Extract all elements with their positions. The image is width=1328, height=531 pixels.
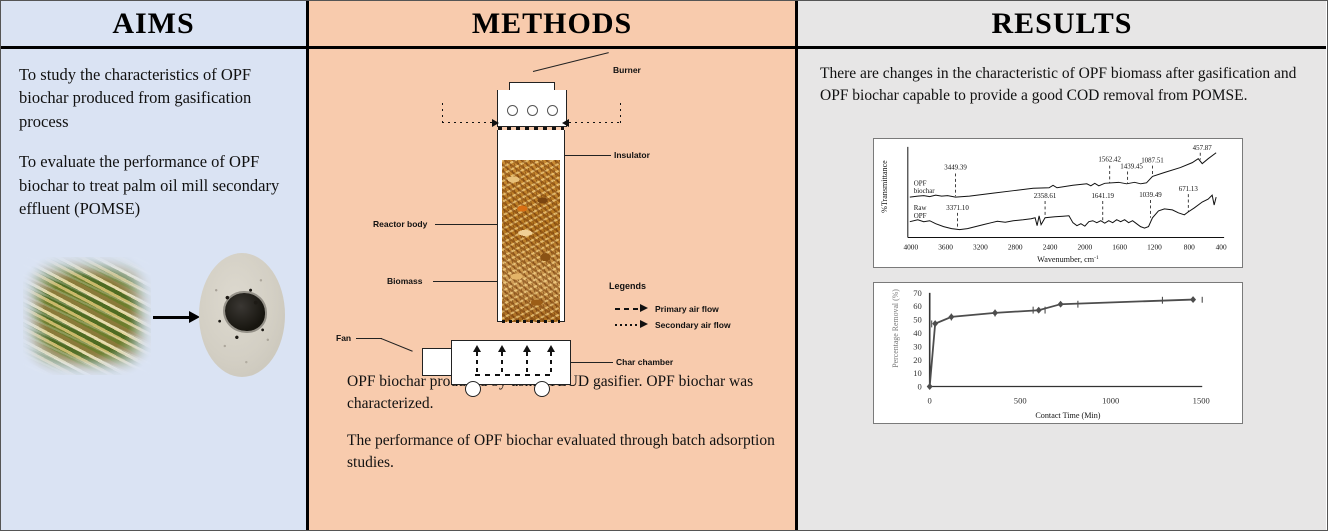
ftir-xtick-3200: 3200 (973, 242, 988, 251)
cod-removal-svg: 0 10 20 30 40 50 60 70 0 500 1000 1 (874, 283, 1242, 423)
biochar-photo (199, 253, 285, 377)
primary-air-riser-4 (550, 352, 552, 375)
ftir-peak-3449: 3449.39 (944, 165, 967, 172)
ftir-svg: %Transmittance (874, 139, 1242, 267)
legend-item-secondary: Secondary air flow (609, 317, 779, 333)
cod-xtick-1500: 1500 (1193, 395, 1210, 405)
arrow-shaft (153, 316, 191, 319)
cod-markers (927, 296, 1196, 390)
ftir-peak-1641: 1641.19 (1091, 193, 1114, 200)
methods-paragraph-2: The performance of OPF biochar evaluated… (347, 430, 775, 473)
burner-housing (497, 90, 567, 127)
ftir-peak-1087: 1087.51 (1141, 158, 1164, 165)
cod-ytick-20: 20 (913, 355, 922, 365)
cod-yticks: 0 10 20 30 40 50 60 70 (913, 288, 922, 392)
label-burner: Burner (613, 65, 641, 75)
secondary-air-left-arrowhead (492, 119, 499, 127)
palm-frond-photo (23, 257, 151, 375)
insulator-leader (565, 155, 611, 156)
primary-air-arrow-2 (498, 345, 506, 352)
aims-figure-group (1, 251, 309, 401)
ftir-xtick-1600: 1600 (1112, 242, 1127, 251)
biomass-leader (433, 281, 497, 282)
burner-leader (533, 52, 609, 72)
fan-leader (381, 338, 413, 352)
ftir-xtick-2000: 2000 (1078, 242, 1093, 251)
ftir-spectra-chart: %Transmittance (873, 138, 1243, 268)
ftir-peak-1562: 1562.42 (1098, 157, 1121, 164)
grate-perforation-row (502, 320, 560, 323)
ftir-peak-1039: 1039.49 (1139, 192, 1162, 199)
aims-header: AIMS (1, 1, 306, 49)
label-biomass: Biomass (387, 276, 422, 286)
cod-xticks: 0 500 1000 1500 (928, 395, 1210, 405)
burner-hole-1 (507, 105, 518, 116)
cod-ytick-40: 40 (913, 328, 922, 338)
ftir-xtick-3600: 3600 (938, 242, 953, 251)
diagram-legend: Legends Primary air flow Secondary air f… (609, 281, 779, 333)
label-reactor-body: Reactor body (373, 219, 427, 229)
primary-air-arrow-1 (473, 345, 481, 352)
cod-ylabel: Percentage Removal (%) (891, 289, 900, 368)
ftir-series-label-raw-2: OPF (914, 213, 927, 220)
char-chamber-leader (571, 362, 613, 363)
legend-title: Legends (609, 281, 779, 291)
aims-paragraph-2: To evaluate the performance of OPF bioch… (19, 150, 288, 220)
burner-hole-3 (547, 105, 558, 116)
legend-arrow-icon-secondary (640, 320, 648, 328)
ftir-ylabel: %Transmittance (880, 160, 889, 213)
burner-hole-2 (527, 105, 538, 116)
cod-ytick-50: 50 (913, 315, 922, 325)
frond-vignette (23, 257, 151, 375)
cod-ytick-30: 30 (913, 341, 922, 351)
biomass-chips-texture (502, 160, 560, 322)
ftir-xticks: 4000 3600 3200 2800 2400 2000 1600 1200 … (903, 242, 1227, 251)
primary-air-arrow-3 (523, 345, 531, 352)
results-text-block: There are changes in the characteristic … (798, 49, 1326, 115)
graphical-abstract: AIMS To study the characteristics of OPF… (0, 0, 1328, 531)
fan-unit (422, 348, 452, 376)
column-results: RESULTS There are changes in the charact… (798, 1, 1326, 530)
cod-ytick-70: 70 (913, 288, 922, 298)
column-aims: AIMS To study the characteristics of OPF… (1, 1, 309, 530)
label-char-chamber: Char chamber (616, 357, 673, 367)
fan-leader-flat (356, 338, 382, 339)
legend-dotted-line-icon (615, 324, 641, 326)
cod-ytick-10: 10 (913, 368, 922, 378)
aims-body: To study the characteristics of OPF bioc… (1, 49, 306, 530)
ftir-xlabel: Wavenumber, cm-1 (1037, 255, 1099, 264)
ftir-peak-671: 671.13 (1179, 186, 1199, 193)
results-title: RESULTS (992, 7, 1133, 41)
cod-xtick-500: 500 (1014, 395, 1027, 405)
conversion-arrow-icon (153, 311, 201, 323)
cod-ytick-0: 0 (917, 382, 921, 392)
label-fan: Fan (336, 333, 351, 343)
cod-xlabel: Contact Time (Min) (1035, 411, 1100, 420)
secondary-air-left-drop (442, 103, 443, 123)
ftir-peak-457: 457.87 (1193, 145, 1213, 152)
secondary-air-left-line (442, 122, 494, 123)
wheel-left (465, 381, 481, 397)
results-header: RESULTS (798, 1, 1326, 49)
cod-removal-chart: 0 10 20 30 40 50 60 70 0 500 1000 1 (873, 282, 1243, 424)
reactor-body-leader (435, 224, 497, 225)
cod-xtick-1000: 1000 (1102, 395, 1119, 405)
label-insulator: Insulator (614, 150, 650, 160)
aims-paragraph-1: To study the characteristics of OPF bioc… (19, 63, 288, 133)
primary-air-riser-2 (501, 352, 503, 375)
reactor-assembly (497, 82, 565, 340)
ftir-xtick-2400: 2400 (1043, 242, 1058, 251)
ftir-peak-3371: 3371.10 (946, 205, 969, 212)
aims-title: AIMS (112, 7, 194, 41)
legend-label-primary: Primary air flow (655, 304, 719, 314)
biochar-crumbs (199, 253, 285, 377)
primary-air-riser-3 (526, 352, 528, 375)
cod-xtick-0: 0 (928, 395, 932, 405)
ftir-series-label-biochar: OPF (914, 180, 927, 187)
cod-ytick-60: 60 (913, 301, 922, 311)
ftir-series-label-biochar-2: biochar (914, 188, 936, 195)
aims-text-block: To study the characteristics of OPF bioc… (1, 49, 306, 221)
secondary-air-right-line (569, 122, 621, 123)
ftir-xtick-1200: 1200 (1147, 242, 1162, 251)
ftir-xtick-400: 400 (1216, 242, 1227, 251)
ftir-peak-1439: 1439.45 (1120, 164, 1143, 171)
results-paragraph-1: There are changes in the characteristic … (820, 63, 1304, 107)
ftir-xtick-800: 800 (1184, 242, 1195, 251)
legend-arrow-icon-primary (640, 304, 648, 312)
wheel-right (534, 381, 550, 397)
column-methods: METHODS (309, 1, 798, 530)
primary-air-riser-1 (476, 352, 478, 375)
ftir-peak-2358: 2358.61 (1034, 193, 1057, 200)
biomass-fill (502, 160, 560, 322)
methods-body: Burner Insulator Reactor body Biomass Fa… (309, 49, 795, 530)
primary-air-arrow-4 (547, 345, 555, 352)
legend-label-secondary: Secondary air flow (655, 320, 731, 330)
ftir-xtick-2800: 2800 (1008, 242, 1023, 251)
secondary-air-right-arrowhead (562, 119, 569, 127)
primary-air-manifold (475, 374, 551, 376)
results-body: There are changes in the characteristic … (798, 49, 1326, 530)
ftir-xtick-4000: 4000 (903, 242, 918, 251)
ftir-series-label-raw: Raw (914, 205, 927, 212)
secondary-air-right-drop (620, 103, 621, 123)
methods-header: METHODS (309, 1, 795, 49)
tlud-gasifier-diagram: Burner Insulator Reactor body Biomass Fa… (309, 49, 798, 369)
legend-item-primary: Primary air flow (609, 301, 779, 317)
methods-title: METHODS (472, 7, 632, 41)
legend-dash-line-icon (615, 308, 641, 310)
